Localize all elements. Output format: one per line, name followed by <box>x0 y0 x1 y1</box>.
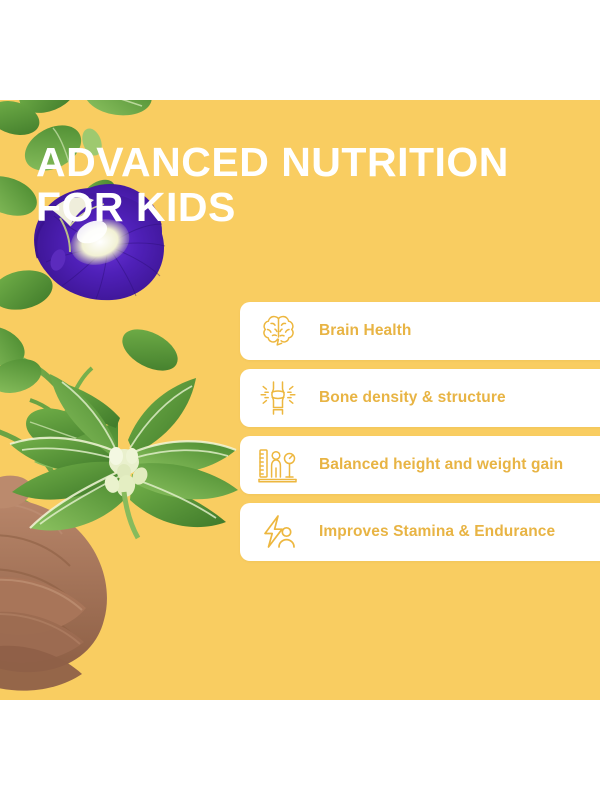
brain-icon <box>255 311 301 351</box>
feature-label: Brain Health <box>319 322 412 340</box>
bone-joint-icon <box>255 378 301 418</box>
feature-card-bone-density[interactable]: Bone density & structure <box>240 369 600 427</box>
feature-label: Bone density & structure <box>319 389 506 407</box>
banner-image: ADVANCED NUTRITION FOR KIDS <box>0 0 600 800</box>
feature-label: Improves Stamina & Endurance <box>319 523 555 541</box>
feature-card-height-weight[interactable]: Balanced height and weight gain <box>240 436 600 494</box>
feature-label: Balanced height and weight gain <box>319 456 563 474</box>
feature-card-list: Brain Health <box>240 302 600 570</box>
feature-card-stamina[interactable]: Improves Stamina & Endurance <box>240 503 600 561</box>
feature-card-brain-health[interactable]: Brain Health <box>240 302 600 360</box>
height-weight-icon <box>255 445 301 485</box>
page-title: ADVANCED NUTRITION FOR KIDS <box>36 140 556 230</box>
stamina-bolt-icon <box>255 512 301 552</box>
